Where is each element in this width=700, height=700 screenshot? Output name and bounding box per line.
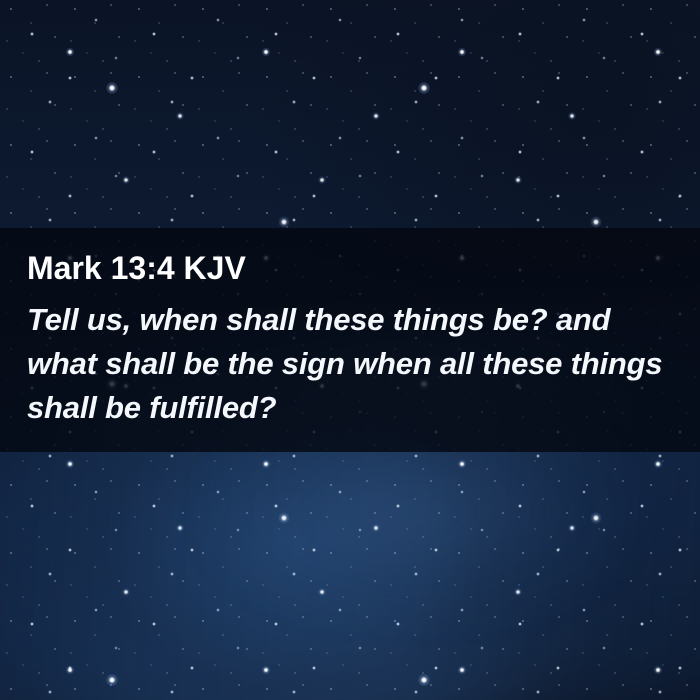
verse-reference: Mark 13:4 KJV [27,249,246,287]
verse-image-card: Mark 13:4 KJV Tell us, when shall these … [0,0,700,700]
verse-text: Tell us, when shall these things be? and… [27,298,687,430]
